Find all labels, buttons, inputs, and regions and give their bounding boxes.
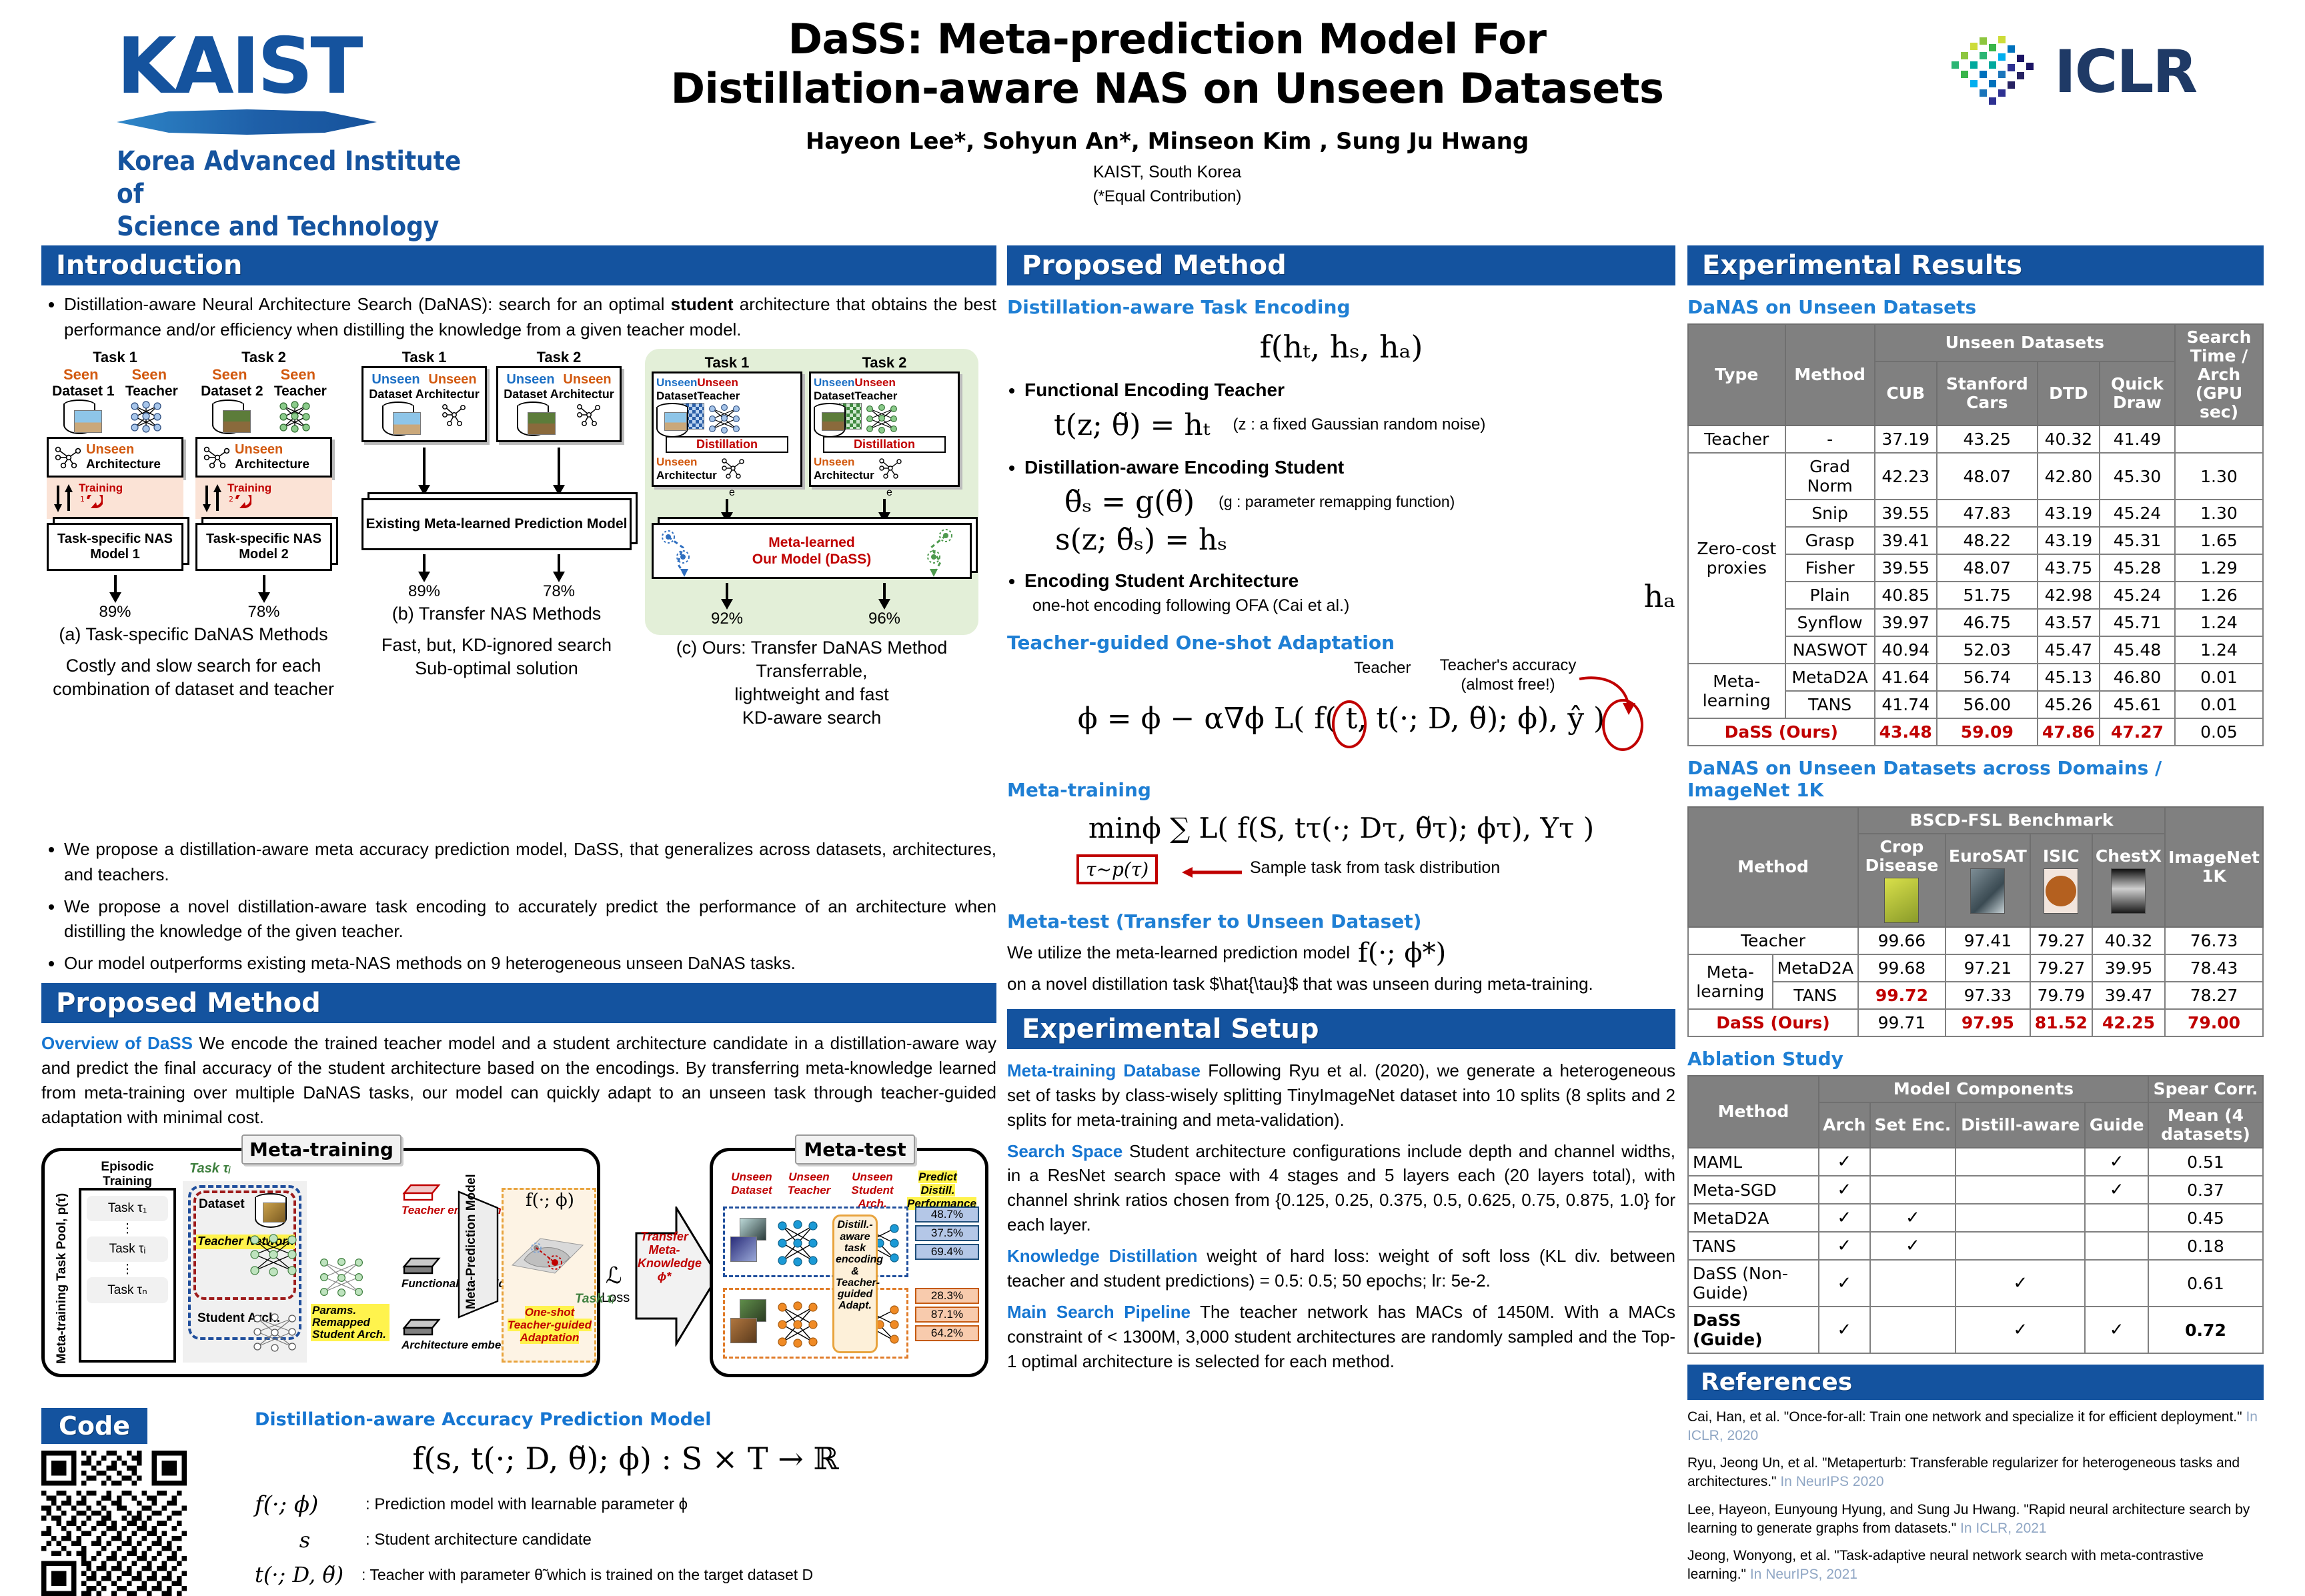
cell-mean: 0.18 — [2148, 1232, 2263, 1260]
affiliation: KAIST, South Korea — [627, 163, 1707, 182]
cell-mean: 0.61 — [2148, 1260, 2263, 1307]
cell-method: Teacher — [1688, 927, 1858, 954]
eurosat-thumbnail — [1970, 868, 2005, 914]
th-method: Method — [1785, 324, 1875, 426]
cell-value: 48.07 — [1937, 453, 2038, 500]
cell-check-guide: ✓ — [2085, 1176, 2148, 1204]
section-header-proposed-method-mid: Proposed Method — [1007, 245, 1675, 285]
panel-a-task2-arrow-head — [258, 592, 270, 603]
introduction-main-bullet-list: Distillation-aware Neural Architecture S… — [41, 292, 996, 342]
meta-test-predictions-blue: 48.7% 37.5% 69.4% — [915, 1207, 979, 1260]
panel-c-task2-arch-sub: e — [809, 487, 960, 499]
th-search-time: Search Time / Arch (GPU sec) — [2175, 324, 2263, 426]
panel-a-task2-training-label: Training — [227, 482, 271, 495]
code-legend-symbol: f(·; ϕ) — [255, 1491, 355, 1518]
panel-c-task2-label: Task 2 — [809, 354, 960, 371]
right-column: Experimental Results DaNAS on Unseen Dat… — [1687, 245, 2264, 1593]
panel-b-out1-arrow-line — [423, 554, 426, 572]
prediction-value: 28.3% — [915, 1288, 979, 1304]
cell-value: 41.64 — [1875, 664, 1937, 691]
table-row: Teacher - 37.19 43.25 40.32 41.49 — [1688, 426, 2263, 453]
table-row: TANS ✓ ✓ 0.18 — [1688, 1232, 2263, 1260]
panel-b-task1-unseen-arch-tag: Unseen — [428, 372, 476, 387]
panel-b-task1-accuracy: 89% — [361, 582, 487, 601]
panel-a-task2-dataset-icon — [212, 400, 241, 434]
panel-c-task1-architecture-icon — [720, 456, 746, 482]
panel-a-task1-training-box: Training 1 — [47, 478, 183, 519]
cell-value: 46.75 — [1937, 609, 2038, 636]
cell-type: Meta-learning — [1688, 664, 1785, 718]
cell-method: MetaD2A — [1773, 954, 1858, 982]
setup-item-lead: Meta-training Database — [1007, 1060, 1201, 1080]
cell-method: NASWOT — [1785, 636, 1875, 664]
panel-a-task1-seen-1: Seen — [63, 366, 99, 383]
cell-value: 51.75 — [1937, 582, 2038, 609]
panel-a-task1-dataset-label: Dataset 1 — [52, 383, 114, 400]
cell-method-ours: DaSS (Guide) — [1688, 1307, 1819, 1353]
setup-item-lead: Knowledge Distillation — [1007, 1246, 1197, 1266]
panel-a-task1-teacher-label: Teacher — [125, 383, 178, 400]
panel-a-task1-loop-icon: 1 — [79, 495, 103, 512]
params-remapped-text: Params. Remapped Student Arch. — [312, 1304, 386, 1341]
panel-b-task2-accuracy: 78% — [496, 582, 622, 601]
th-bscd-fsl-group: BSCD-FSL Benchmark — [1858, 807, 2165, 834]
prediction-value: 87.1% — [915, 1307, 979, 1323]
section-header-experimental-results: Experimental Results — [1687, 245, 2264, 285]
cell-value: 42.80 — [2038, 453, 2100, 500]
panel-a-note-2: combination of dataset and teacher — [47, 679, 340, 700]
references-list: Cai, Han, et al. "Once-for-all: Train on… — [1687, 1408, 2264, 1584]
figure-dass-architecture: Meta-training Meta-training Task Pool, p… — [41, 1137, 988, 1404]
cell-check-guide — [2085, 1260, 2148, 1307]
cell-mean-ours: 0.72 — [2148, 1307, 2263, 1353]
meta-test-text-1: We utilize the meta-learned prediction m… — [1007, 942, 1350, 963]
code-legend-row: t(·; D, θ̃) : Teacher with parameter θ̃ … — [255, 1562, 996, 1587]
encoding-bullet-list: Functional Encoding Teacher — [1007, 377, 1675, 404]
arch-encoding-block: Encoding Student Architecture one-hot en… — [1007, 568, 1675, 616]
th-crop-disease: Crop Disease — [1858, 834, 1946, 927]
reference-item: Cai, Han, et al. "Once-for-all: Train on… — [1687, 1408, 2264, 1445]
table1-caption: DaNAS on Unseen Datasets — [1687, 296, 2264, 318]
kaist-logo: KAIST Korea Advanced Institute of Scienc… — [117, 28, 464, 243]
cell-value: 56.00 — [1937, 691, 2038, 718]
prediction-value: 37.5% — [915, 1225, 979, 1241]
dass-overview-lead: Overview of DaSS — [41, 1033, 193, 1053]
panel-b-task2-box: Unseen Unseen Dataset Architectur — [496, 366, 622, 442]
cell-value: 45.24 — [2100, 582, 2175, 609]
cell-value: 43.57 — [2038, 609, 2100, 636]
section-header-references: References — [1687, 1365, 2264, 1400]
introduction-contribution-item: Our model outperforms existing meta-NAS … — [64, 951, 996, 976]
subhead-meta-training: Meta-training — [1007, 779, 1675, 801]
panel-c-task2-unseen-dataset-tag: Unseen — [814, 376, 854, 389]
cell-value: 43.19 — [2038, 500, 2100, 527]
panel-b-task1-unseen-dataset-tag: Unseen — [371, 372, 420, 387]
panel-a-task1-arch-box: Unseen Architecture — [47, 437, 183, 478]
qr-code-graphic[interactable] — [41, 1451, 187, 1596]
cell-check-guide — [2085, 1204, 2148, 1232]
cell-check-distill-aware — [1956, 1232, 2085, 1260]
dass-overview-paragraph: Overview of DaSS We encode the trained t… — [41, 1031, 996, 1130]
cell-method: DaSS (Non-Guide) — [1688, 1260, 1819, 1307]
cell-check-set-enc — [1870, 1148, 1956, 1176]
crop-disease-thumbnail — [1884, 878, 1919, 923]
panel-c-task1-unseen-dataset-tag: Unseen — [656, 376, 697, 389]
cell-value: 56.74 — [1937, 664, 2038, 691]
panel-c-task2-teacher-network-icon — [863, 403, 902, 435]
cell-value: 52.03 — [1937, 636, 2038, 664]
prediction-value: 64.2% — [915, 1325, 979, 1341]
meta-test-label: Meta-test — [795, 1134, 915, 1164]
table-row: MAML ✓ ✓ 0.51 — [1688, 1148, 2263, 1176]
kaist-subtitle-line-1: Korea Advanced Institute of — [117, 145, 464, 211]
cell-value: 99.68 — [1858, 954, 1946, 982]
cell-search-time: 1.30 — [2175, 453, 2263, 500]
subhead-task-encoding: Distillation-aware Task Encoding — [1007, 296, 1675, 318]
cell-mean: 0.37 — [2148, 1176, 2263, 1204]
meta-test-unseen-student-label: Unseen Student Arch. — [838, 1170, 907, 1211]
cell-value: 42.23 — [1875, 453, 1937, 500]
cell-value: 97.41 — [1946, 927, 2030, 954]
meta-test-formula: f(·; ϕ*) — [1358, 938, 1446, 968]
student-remap-note: (g : parameter remapping function) — [1219, 493, 1455, 511]
panel-c-task1-teacher-label: Teacher — [697, 389, 740, 403]
cell-value: 45.47 — [2038, 636, 2100, 664]
reference-item: Jeong, Wonyong, et al. "Task-adaptive ne… — [1687, 1547, 2264, 1583]
panel-b-task1-dataset-icon — [382, 402, 412, 436]
cell-check-arch: ✓ — [1819, 1307, 1870, 1353]
panel-c-task2-arrow-line — [883, 499, 886, 512]
poster-header: KAIST Korea Advanced Institute of Scienc… — [0, 0, 2305, 235]
cell-value-ours: 47.86 — [2038, 718, 2100, 746]
cell-check-distill-aware: ✓ — [1956, 1307, 2085, 1353]
panel-a-task1-seen-2: Seen — [131, 366, 167, 383]
cell-value: 41.74 — [1875, 691, 1937, 718]
bullet-encoding-student-architecture: Encoding Student Architecture — [1024, 568, 1627, 595]
cell-value: 43.75 — [2038, 554, 2100, 582]
cell-search-time: 0.05 — [2175, 718, 2263, 746]
meta-training-formula: minϕ ∑ L( f(S, tτ(·; Dτ, θ̃τ); ϕτ), Yτ ) — [1007, 812, 1675, 844]
section-header-proposed-method-left: Proposed Method — [41, 983, 996, 1023]
table-row: Meta-learning MetaD2A 41.64 56.74 45.13 … — [1688, 664, 2263, 691]
panel-c-task2-distillation-label: Distillation — [823, 436, 946, 453]
code-legend-desc: : Teacher with parameter θ̃ which is tra… — [361, 1566, 813, 1584]
kaist-logo-subtitle: Korea Advanced Institute of Science and … — [117, 145, 464, 243]
setup-item: Knowledge Distillation weight of hard lo… — [1007, 1244, 1675, 1293]
cell-value: 48.07 — [1937, 554, 2038, 582]
panel-c-dass-model-box: Meta-learned Our Model (DaSS) — [652, 523, 972, 579]
student-remap-formula-row: θ̃ₛ = g(θ̃) (g : parameter remapping fun… — [1064, 485, 1675, 519]
adaptation-teacher-circle-highlight — [1332, 700, 1367, 748]
panel-b-task2-architecture-icon — [575, 402, 602, 431]
isic-thumbnail — [2044, 868, 2078, 914]
cell-method: TANS — [1773, 982, 1858, 1009]
cell-check-arch: ✓ — [1819, 1260, 1870, 1307]
cell-method-ours: DaSS (Ours) — [1688, 1009, 1858, 1036]
cell-value: 99.66 — [1858, 927, 1946, 954]
teacher-encoding-note: (z : a fixed Gaussian random noise) — [1233, 416, 1486, 434]
architecture-embedding-bar-icon — [402, 1316, 442, 1336]
cell-check-guide — [2085, 1232, 2148, 1260]
panel-b-task2-arch-label: Architectur — [550, 387, 614, 402]
meta-test-task-blue — [723, 1207, 908, 1277]
cell-mean: 0.45 — [2148, 1204, 2263, 1232]
reference-text: Ryu, Jeong Un, et al. "Metaperturb: Tran… — [1687, 1455, 2240, 1489]
task-i-label: Task τᵢ — [189, 1161, 231, 1176]
reference-venue: In ICLR, 2021 — [1960, 1521, 2047, 1536]
panel-b-task-2: Task 2 Unseen Unseen Dataset Architectur — [496, 349, 622, 496]
cell-type: Meta-learning — [1688, 954, 1773, 1009]
meta-training-label: Meta-training — [241, 1134, 402, 1164]
panel-b-task1-arrow-head — [418, 485, 430, 496]
distill-aware-encoding-box: Distill.-aware task encoding & Teacher-g… — [832, 1215, 878, 1353]
th-isic: ISIC — [2030, 834, 2092, 927]
section-header-introduction: Introduction — [41, 245, 996, 285]
panel-a-task2-accuracy: 78% — [195, 603, 332, 622]
panel-a-task1-model-box: Task-specific NAS Model 1 — [47, 523, 183, 571]
panel-a-task1-arch-label: Architecture — [86, 458, 161, 472]
panel-a-caption: (a) Task-specific DaNAS Methods — [47, 624, 340, 645]
panel-c-task1-arch-sub: e — [652, 487, 802, 499]
meta-test-text-row: We utilize the meta-learned prediction m… — [1007, 938, 1675, 968]
task-distribution-highlight-box: τ~p(τ) — [1076, 854, 1158, 884]
setup-item: Main Search Pipeline The teacher network… — [1007, 1300, 1675, 1374]
th-spear-corr-group: Spear Corr. — [2148, 1076, 2263, 1102]
panel-c-task1-unseen-arch-tag: Unseen — [656, 456, 717, 469]
panel-c-out2-arrow-head — [878, 599, 890, 610]
code-main-formula: f(s, t(·; D, θ̃); ϕ) : S × T → ℝ — [255, 1441, 996, 1477]
middle-column: Proposed Method Distillation-aware Task … — [1007, 245, 1675, 1381]
loss-symbol: ℒ — [606, 1263, 622, 1289]
panel-b-task1-arrow-line — [423, 448, 426, 485]
panel-a-task2-label: Task 2 — [195, 349, 332, 366]
prediction-value: 48.7% — [915, 1207, 979, 1223]
arch-encoding-bullet-list: Encoding Student Architecture — [1007, 568, 1627, 595]
panel-c-task2-accuracy: 96% — [809, 610, 960, 628]
th-imagenet-1k: ImageNet 1K — [2165, 807, 2263, 927]
table-row-highlight: DaSS (Ours) 99.71 97.95 81.52 42.25 79.0… — [1688, 1009, 2263, 1036]
meta-test-unseen-teacher-label: Unseen Teacher — [780, 1170, 838, 1211]
panel-c-task2-architecture-icon — [877, 456, 904, 482]
cell-value: 79.27 — [2030, 954, 2092, 982]
figure-panel-c: Task 1 Unseen Unseen Dataset Teacher — [645, 349, 978, 728]
task-encoding-formula: f(hₜ, hₛ, hₐ) — [1007, 329, 1675, 365]
bullet-distillation-aware-encoding-student: Distillation-aware Encoding Student — [1024, 454, 1675, 482]
table-row: TANS 99.72 97.33 79.79 39.47 78.27 — [1688, 982, 2263, 1009]
cell-search-time — [2175, 426, 2263, 453]
title-block: DaSS: Meta-prediction Model For Distilla… — [627, 15, 1707, 206]
loss-task-label: Task τᵢ — [575, 1292, 614, 1307]
cell-check-distill-aware — [1956, 1204, 2085, 1232]
panel-b-task2-label: Task 2 — [496, 349, 622, 366]
adaptation-teacher-annotation: Teacher — [1354, 659, 1411, 678]
table-danas-unseen-datasets: Type Method Unseen Datasets Search Time … — [1687, 323, 2264, 746]
cell-search-time: 1.24 — [2175, 609, 2263, 636]
cell-method-ours: DaSS (Ours) — [1688, 718, 1875, 746]
panel-c-model-line-1: Meta-learned — [752, 534, 872, 551]
cell-value: 41.49 — [2100, 426, 2175, 453]
table-row: DaSS (Non-Guide) ✓ ✓ 0.61 — [1688, 1260, 2263, 1307]
panel-c-task1-box: Unseen Unseen Dataset Teacher — [652, 371, 802, 487]
table-ablation-study: Method Model Components Spear Corr. Arch… — [1687, 1075, 2264, 1354]
cell-check-distill-aware — [1956, 1148, 2085, 1176]
panel-c-note-2: lightweight and fast — [645, 684, 978, 705]
page-title-line-1: DaSS: Meta-prediction Model For — [627, 15, 1707, 64]
intro-bullet-text-a: Distillation-aware Neural Architecture S… — [64, 294, 671, 314]
cell-method: TANS — [1785, 691, 1875, 718]
task-pool-ellipsis: ⋮ — [87, 1262, 168, 1277]
kaist-logo-wordmark: KAIST — [117, 28, 464, 105]
cell-value: 40.32 — [2038, 426, 2100, 453]
left-column: Introduction Distillation-aware Neural A… — [41, 245, 996, 1596]
th-mean: Mean (4 datasets) — [2148, 1102, 2263, 1148]
panel-b-caption: (b) Transfer NAS Methods — [361, 604, 632, 624]
task-i-dataset-label: Dataset — [199, 1197, 245, 1212]
cell-check-arch: ✓ — [1819, 1148, 1870, 1176]
panel-a-task1-dataset-icon — [63, 400, 93, 434]
panel-a-task2-training-box: Training 2 — [195, 478, 332, 519]
cell-value-ours: 43.48 — [1875, 718, 1937, 746]
cell-value: 45.28 — [2100, 554, 2175, 582]
panel-b-task2-unseen-dataset-tag: Unseen — [506, 372, 554, 387]
cell-value: 39.97 — [1875, 609, 1937, 636]
cell-method: Plain — [1785, 582, 1875, 609]
code-legend-desc: : Student architecture candidate — [365, 1531, 592, 1549]
prediction-value: 69.4% — [915, 1244, 979, 1260]
cell-value: 39.55 — [1875, 554, 1937, 582]
cell-value: 48.22 — [1937, 527, 2038, 554]
cell-value-ours: 47.27 — [2100, 718, 2175, 746]
code-subhead: Distillation-aware Accuracy Prediction M… — [255, 1409, 996, 1430]
table-row-highlight: DaSS (Ours) 43.48 59.09 47.86 47.27 0.05 — [1688, 718, 2263, 746]
code-legend-row: f(·; ϕ) : Prediction model with learnabl… — [255, 1491, 996, 1518]
page-title-line-2: Distillation-aware NAS on Unseen Dataset… — [627, 64, 1707, 113]
table-row: Meta-SGD ✓ ✓ 0.37 — [1688, 1176, 2263, 1204]
panel-b-task2-arrow-head — [553, 485, 565, 496]
th-guide: Guide — [2085, 1102, 2148, 1148]
episodic-training-label: Episodic Training — [79, 1160, 176, 1189]
panel-c-task1-label: Task 1 — [652, 354, 802, 371]
code-legend-row: s : Student architecture candidate — [255, 1527, 996, 1553]
setup-item: Meta-training Database Following Ryu et … — [1007, 1058, 1675, 1132]
cell-method: MetaD2A — [1688, 1204, 1819, 1232]
panel-c-task1-dataset-label: Dataset — [656, 389, 697, 403]
panel-c-note-1: Transferrable, — [645, 661, 978, 682]
iclr-wordmark: ICLR — [2054, 37, 2196, 106]
panel-c-task2-unseen-arch-tag: Unseen — [814, 456, 874, 469]
panel-c-task2-box: Unseen Unseen Dataset Teacher — [809, 371, 960, 487]
th-chestx: ChestX — [2092, 834, 2165, 927]
meta-test-orange-teacher-icon — [774, 1299, 822, 1353]
th-arch: Arch — [1819, 1102, 1870, 1148]
th-isic-label: ISIC — [2043, 846, 2080, 866]
figure-panel-a: Task 1 Seen Seen Dataset 1 Teacher — [47, 349, 340, 700]
cell-check-arch: ✓ — [1819, 1232, 1870, 1260]
cell-search-time: 0.01 — [2175, 664, 2263, 691]
panel-c-out1-arrow-line — [726, 583, 728, 599]
qr-code[interactable] — [41, 1451, 241, 1596]
panel-c-task1-teacher-network-icon — [706, 403, 744, 435]
cell-type: Teacher — [1688, 426, 1785, 453]
adaptation-accuracy-annotation: Teacher's accuracy (almost free!) — [1431, 656, 1585, 695]
setup-item-lead: Search Space — [1007, 1141, 1122, 1161]
th-method: Method — [1688, 807, 1858, 927]
page-title: DaSS: Meta-prediction Model For Distilla… — [627, 15, 1707, 113]
panel-c-task2-dataset-icon — [814, 403, 838, 432]
kaist-subtitle-line-2: Science and Technology — [117, 211, 464, 243]
reference-item: Lee, Hayeon, Eunyoung Hyung, and Sung Ju… — [1687, 1501, 2264, 1537]
th-type: Type — [1688, 324, 1785, 426]
cell-imagenet: 78.27 — [2165, 982, 2263, 1009]
panel-b-task-1: Task 1 Unseen Unseen Dataset Architectur — [361, 349, 487, 496]
panel-a-task2-teacher-label: Teacher — [274, 383, 327, 400]
cell-method: Grasp — [1785, 527, 1875, 554]
iclr-brain-icon — [1948, 32, 2048, 111]
setup-item: Search Space Student architecture config… — [1007, 1139, 1675, 1238]
panel-a-task-1: Task 1 Seen Seen Dataset 1 Teacher — [47, 349, 183, 622]
panel-a-task2-arrow-line — [263, 575, 265, 592]
code-section: Code — [41, 1408, 996, 1596]
th-quick-draw: Quick Draw — [2100, 361, 2175, 426]
table-row: MetaD2A ✓ ✓ 0.45 — [1688, 1204, 2263, 1232]
panel-b-note-2: Sub-optimal solution — [361, 658, 632, 679]
th-crop-disease-label: Crop Disease — [1865, 837, 1938, 875]
panel-c-green-path-icon — [911, 528, 964, 578]
cell-value: 79.27 — [2030, 927, 2092, 954]
panel-a-task2-bidirectional-arrows-icon — [201, 483, 223, 514]
panel-a-task2-dataset-label: Dataset 2 — [201, 383, 263, 400]
task-pool-item: Task τₙ — [87, 1277, 168, 1303]
task-pool-box: Task τ₁ ⋮ Task τᵢ ⋮ Task τₙ — [79, 1188, 176, 1363]
section-header-experimental-setup: Experimental Setup — [1007, 1009, 1675, 1049]
cell-value: 99.71 — [1858, 1009, 1946, 1036]
task-pool-axis-label: Meta-training Task Pool, p(τ) — [55, 1193, 69, 1364]
panel-c-out2-arrow-line — [883, 583, 886, 599]
introduction-contribution-item: We propose a distillation-aware meta acc… — [64, 837, 996, 887]
adaptation-formula-block: Teacher Teacher's accuracy (almost free!… — [1007, 659, 1675, 776]
arch-encoding-sub: one-hot encoding following OFA (Cai et a… — [1007, 596, 1627, 616]
th-unseen-datasets-group: Unseen Datasets — [1875, 324, 2175, 361]
figure-danas-comparison: Task 1 Seen Seen Dataset 1 Teacher — [41, 349, 996, 682]
cell-value: 45.31 — [2100, 527, 2175, 554]
panel-a-note-1: Costly and slow search for each — [47, 656, 340, 676]
cell-value: 39.47 — [2092, 982, 2165, 1009]
cell-search-time: 1.65 — [2175, 527, 2263, 554]
panel-b-task1-arch-label: Architectur — [416, 387, 480, 402]
cell-search-time: 1.30 — [2175, 500, 2263, 527]
th-distill-aware: Distill-aware — [1956, 1102, 2085, 1148]
cell-value: 40.85 — [1875, 582, 1937, 609]
task-pool-ellipsis: ⋮ — [87, 1221, 168, 1237]
meta-test-blue-teacher-icon — [774, 1218, 822, 1271]
panel-c-task2-arch-label: Architectur — [814, 469, 874, 482]
cell-method: Synflow — [1785, 609, 1875, 636]
cell-value-ours: 59.09 — [1937, 718, 2038, 746]
task-pool-item: Task τᵢ — [87, 1237, 168, 1262]
panel-c-task-1: Task 1 Unseen Unseen Dataset Teacher — [652, 354, 802, 523]
panel-b-out2-arrow-line — [558, 554, 560, 572]
cell-value: 45.48 — [2100, 636, 2175, 664]
meta-prediction-model-label-wrap: Meta-Prediction Model — [460, 1199, 495, 1312]
table-row: Zero-cost proxies Grad Norm 42.23 48.07 … — [1688, 453, 2263, 500]
cell-value-ours: 97.95 — [1946, 1009, 2030, 1036]
code-legend-desc: : Prediction model with learnable parame… — [365, 1495, 688, 1514]
panel-a-task1-accuracy: 89% — [47, 603, 183, 622]
meta-training-formula-block: minϕ ∑ L( f(S, tτ(·; Dτ, θ̃τ); ϕτ), Yτ )… — [1007, 806, 1675, 906]
cell-method: - — [1785, 426, 1875, 453]
cell-check-set-enc: ✓ — [1870, 1204, 1956, 1232]
cell-value: 39.95 — [2092, 954, 2165, 982]
